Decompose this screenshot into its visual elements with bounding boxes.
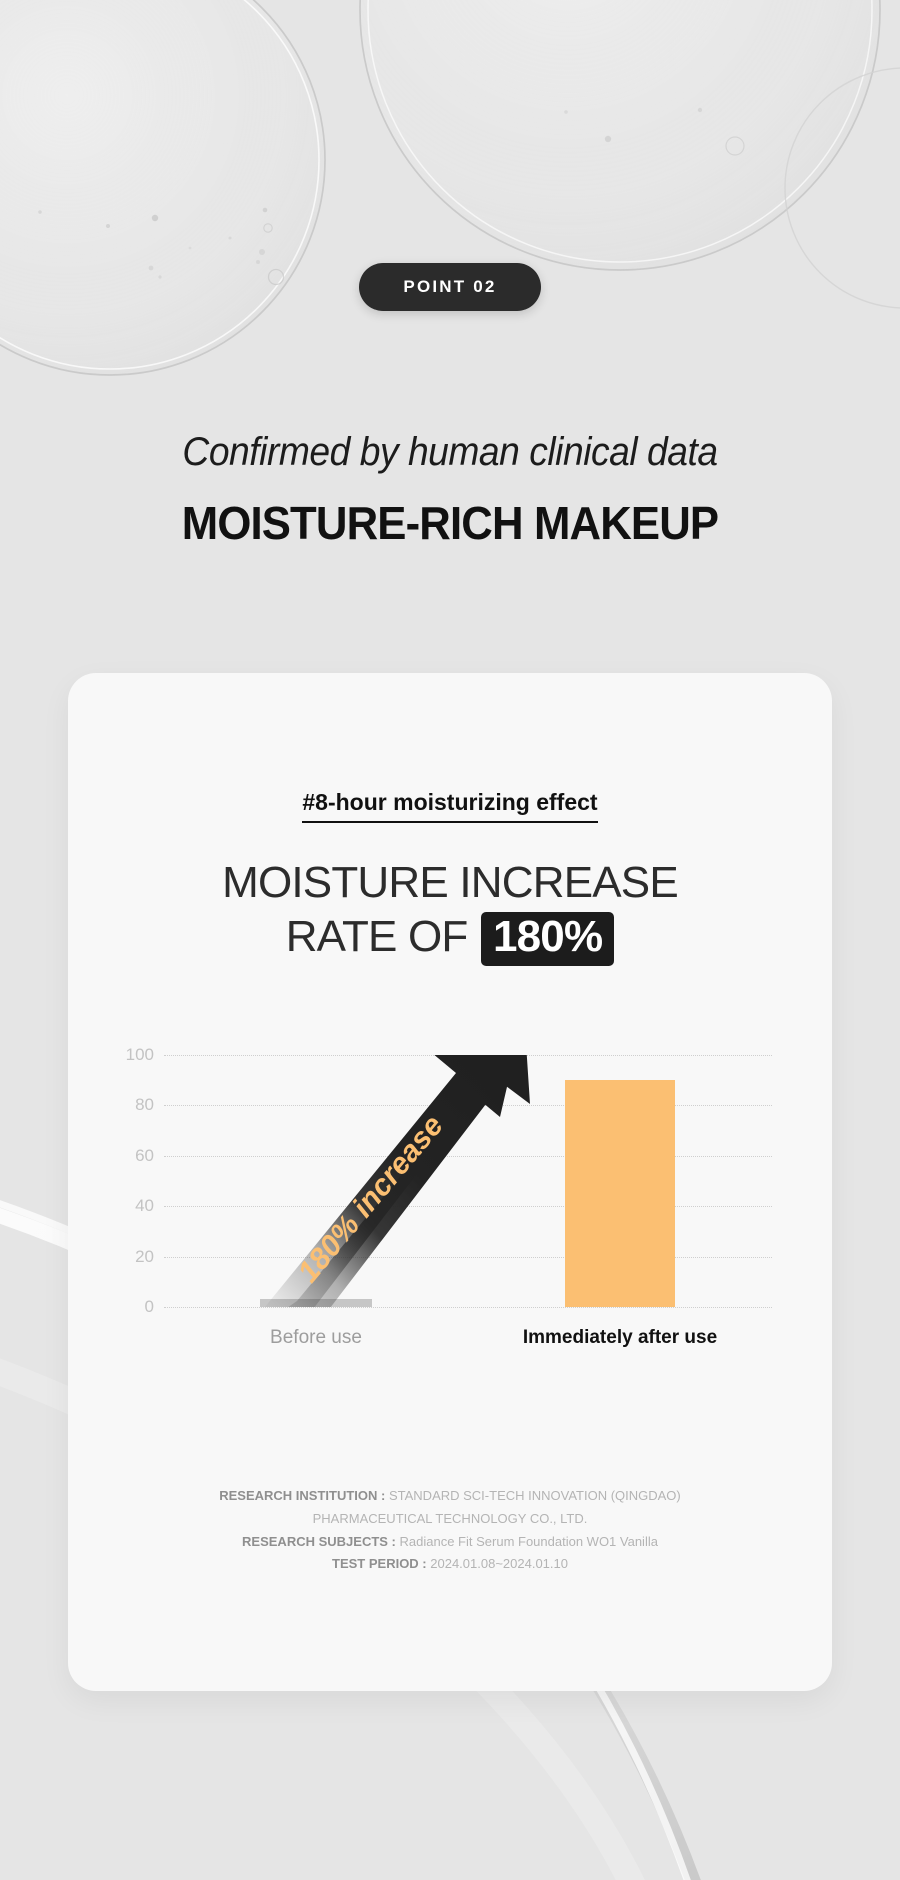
moisture-bar-chart: 100806040200 180% increase Before useImm… [68,1055,832,1385]
point-badge: POINT 02 [359,263,540,311]
note-period-value: 2024.01.08~2024.01.10 [430,1556,568,1571]
note-institution-line2: PHARMACEUTICAL TECHNOLOGY CO., LTD. [68,1508,832,1531]
x-axis-labels: Before useImmediately after use [164,1327,772,1367]
y-axis-ticks: 100806040200 [92,1055,154,1307]
gel-circle-right [360,0,880,270]
increase-arrow: 180% increase [164,1055,772,1307]
y-tick-40: 40 [92,1196,154,1216]
x-label-before-use: Before use [164,1327,468,1349]
note-institution: RESEARCH INSTITUTION : STANDARD SCI-TECH… [68,1485,832,1508]
y-tick-0: 0 [92,1297,154,1317]
gridline-0 [164,1307,772,1308]
page-title: MOISTURE-RICH MAKEUP [23,496,878,550]
arrow-annotation-label: 180% increase [292,1109,450,1289]
chart-title: MOISTURE INCREASE RATE OF 180% [68,856,832,966]
y-tick-20: 20 [92,1247,154,1267]
research-notes: RESEARCH INSTITUTION : STANDARD SCI-TECH… [68,1485,832,1576]
hashtag-heading-text: #8-hour moisturizing effect [302,789,597,823]
x-label-immediately-after-use: Immediately after use [468,1327,772,1349]
note-subjects: RESEARCH SUBJECTS : Radiance Fit Serum F… [68,1531,832,1554]
note-subjects-value: Radiance Fit Serum Foundation WO1 Vanill… [400,1534,658,1549]
note-institution-value: STANDARD SCI-TECH INNOVATION (QINGDAO) [389,1488,681,1503]
gel-circle-left [0,0,325,375]
subheadline: Confirmed by human clinical data [32,430,869,475]
note-subjects-label: RESEARCH SUBJECTS : [242,1534,396,1549]
hashtag-heading: #8-hour moisturizing effect [68,789,832,816]
y-tick-60: 60 [92,1146,154,1166]
chart-title-line2-prefix: RATE OF [286,912,468,961]
note-period: TEST PERIOD : 2024.01.08~2024.01.10 [68,1553,832,1576]
note-institution-label: RESEARCH INSTITUTION : [219,1488,385,1503]
highlight-180-percent: 180% [481,912,614,966]
point-badge-container: POINT 02 [0,263,900,311]
y-tick-80: 80 [92,1095,154,1115]
note-period-label: TEST PERIOD : [332,1556,427,1571]
clinical-data-card: #8-hour moisturizing effect MOISTURE INC… [68,673,832,1691]
chart-title-line1: MOISTURE INCREASE [68,856,832,910]
y-tick-100: 100 [92,1045,154,1065]
chart-title-line2: RATE OF 180% [68,910,832,966]
